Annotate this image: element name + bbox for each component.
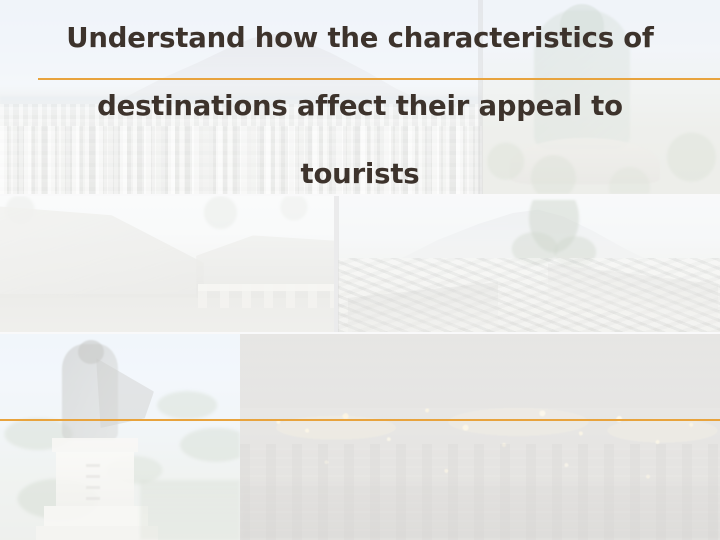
pedestal-inscription <box>86 460 100 500</box>
lower-rule-line <box>0 419 720 421</box>
title-line-3: tourists <box>46 140 674 208</box>
presentation-slide: Understand how the characteristics of de… <box>0 0 720 540</box>
stone-bridge <box>198 284 334 308</box>
photo-castle-moat-stone-wall <box>0 196 334 332</box>
collage-divider-middle <box>334 196 339 332</box>
slide-title: Understand how the characteristics of de… <box>46 4 674 208</box>
photo-night-cityscape <box>240 334 720 540</box>
pedestal-cap <box>52 438 138 452</box>
statue-head-2 <box>78 340 104 364</box>
title-line-2: destinations affect their appeal to <box>46 72 674 140</box>
title-line-1: Understand how the characteristics of <box>46 4 674 72</box>
hedge <box>140 480 240 540</box>
photo-traditional-village-roofs <box>338 196 720 332</box>
dark-foreground <box>240 484 720 540</box>
photo-saigo-statue-palms <box>0 334 240 540</box>
pedestal-base <box>44 506 148 526</box>
